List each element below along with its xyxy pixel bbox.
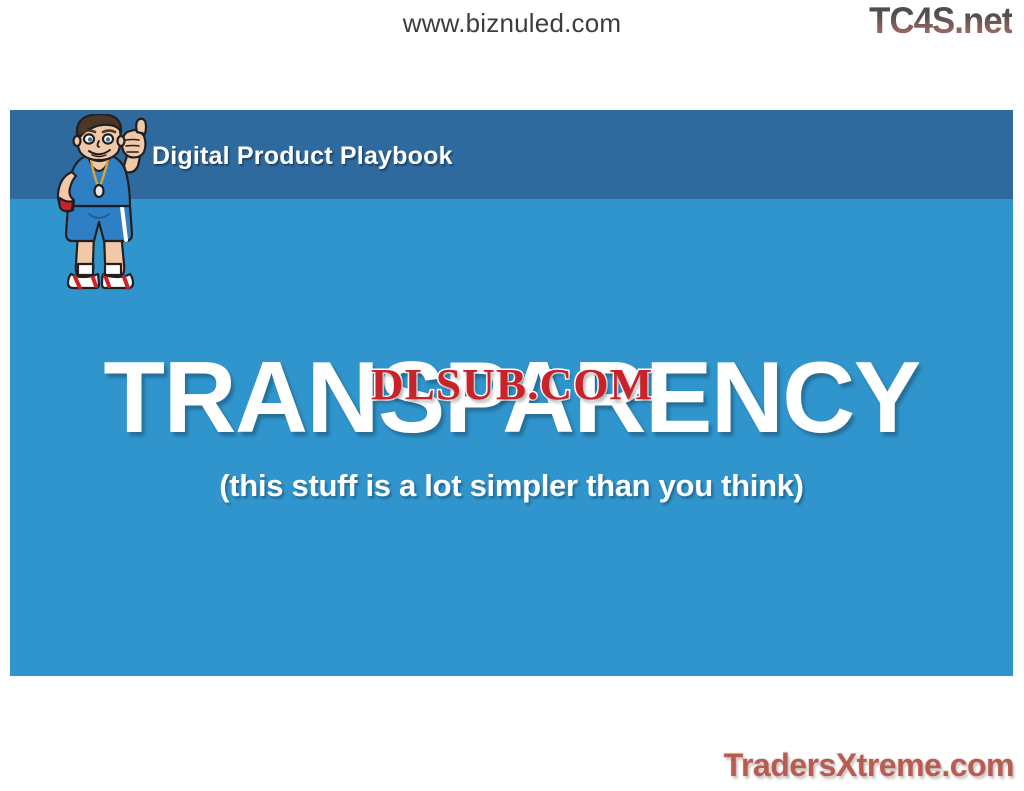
mascot-coach-illustration [42, 114, 152, 298]
slide-subheadline: (this stuff is a lot simpler than you th… [10, 470, 1013, 501]
top-center-url-watermark: www.biznuled.com [0, 8, 1024, 39]
bottom-right-watermark: TradersXtreme.com [724, 749, 1014, 781]
presentation-slide: Digital Product Playbook TRANSPARENCY (t… [10, 110, 1013, 676]
slide-title: Digital Product Playbook [152, 142, 453, 171]
slide-headline: TRANSPARENCY [10, 348, 1013, 449]
